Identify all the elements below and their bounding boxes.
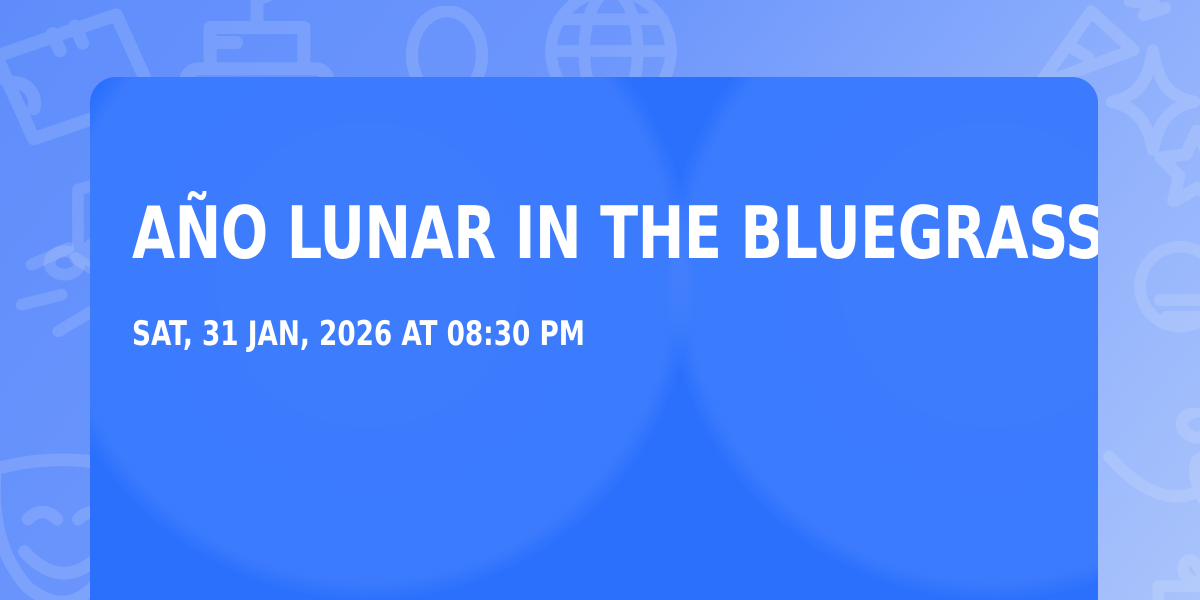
- streamer-icon: [1100, 408, 1200, 598]
- event-card-content: Año Lunar in the Bluegrass Sat, 31 Jan, …: [132, 197, 1056, 354]
- event-banner: Año Lunar in the Bluegrass Sat, 31 Jan, …: [0, 0, 1200, 600]
- event-datetime: Sat, 31 Jan, 2026 at 08:30 PM: [132, 316, 927, 353]
- event-card: Año Lunar in the Bluegrass Sat, 31 Jan, …: [90, 77, 1098, 600]
- gift-icon: [1142, 534, 1200, 600]
- microphone-icon: [1120, 230, 1200, 380]
- event-title: Año Lunar in the Bluegrass: [132, 197, 927, 270]
- star-icon: [1152, 120, 1200, 210]
- sparkle-icon: [1098, 40, 1200, 160]
